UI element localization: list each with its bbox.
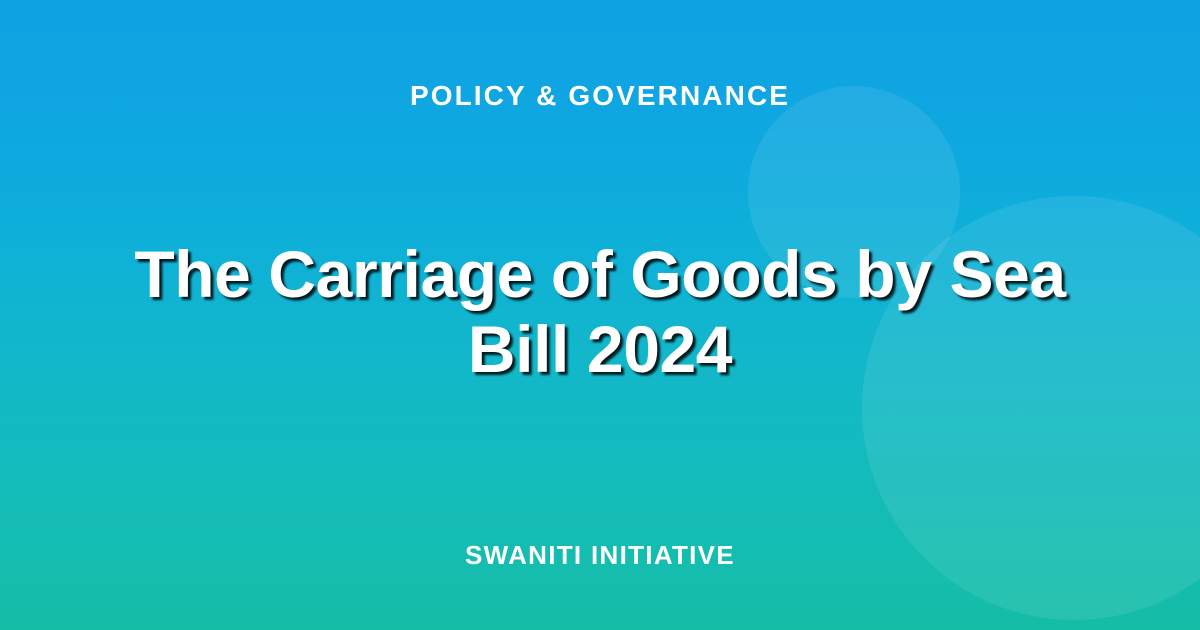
title-block: The Carriage of Goods by Sea Bill 2024	[80, 237, 1120, 392]
policy-banner-card: POLICY & GOVERNANCE The Carriage of Good…	[0, 0, 1200, 630]
page-title: The Carriage of Goods by Sea Bill 2024	[80, 237, 1120, 386]
card-content: The Carriage of Goods by Sea Bill 2024	[0, 0, 1200, 630]
organization-footer-label: SWANITI INITIATIVE	[0, 542, 1200, 568]
